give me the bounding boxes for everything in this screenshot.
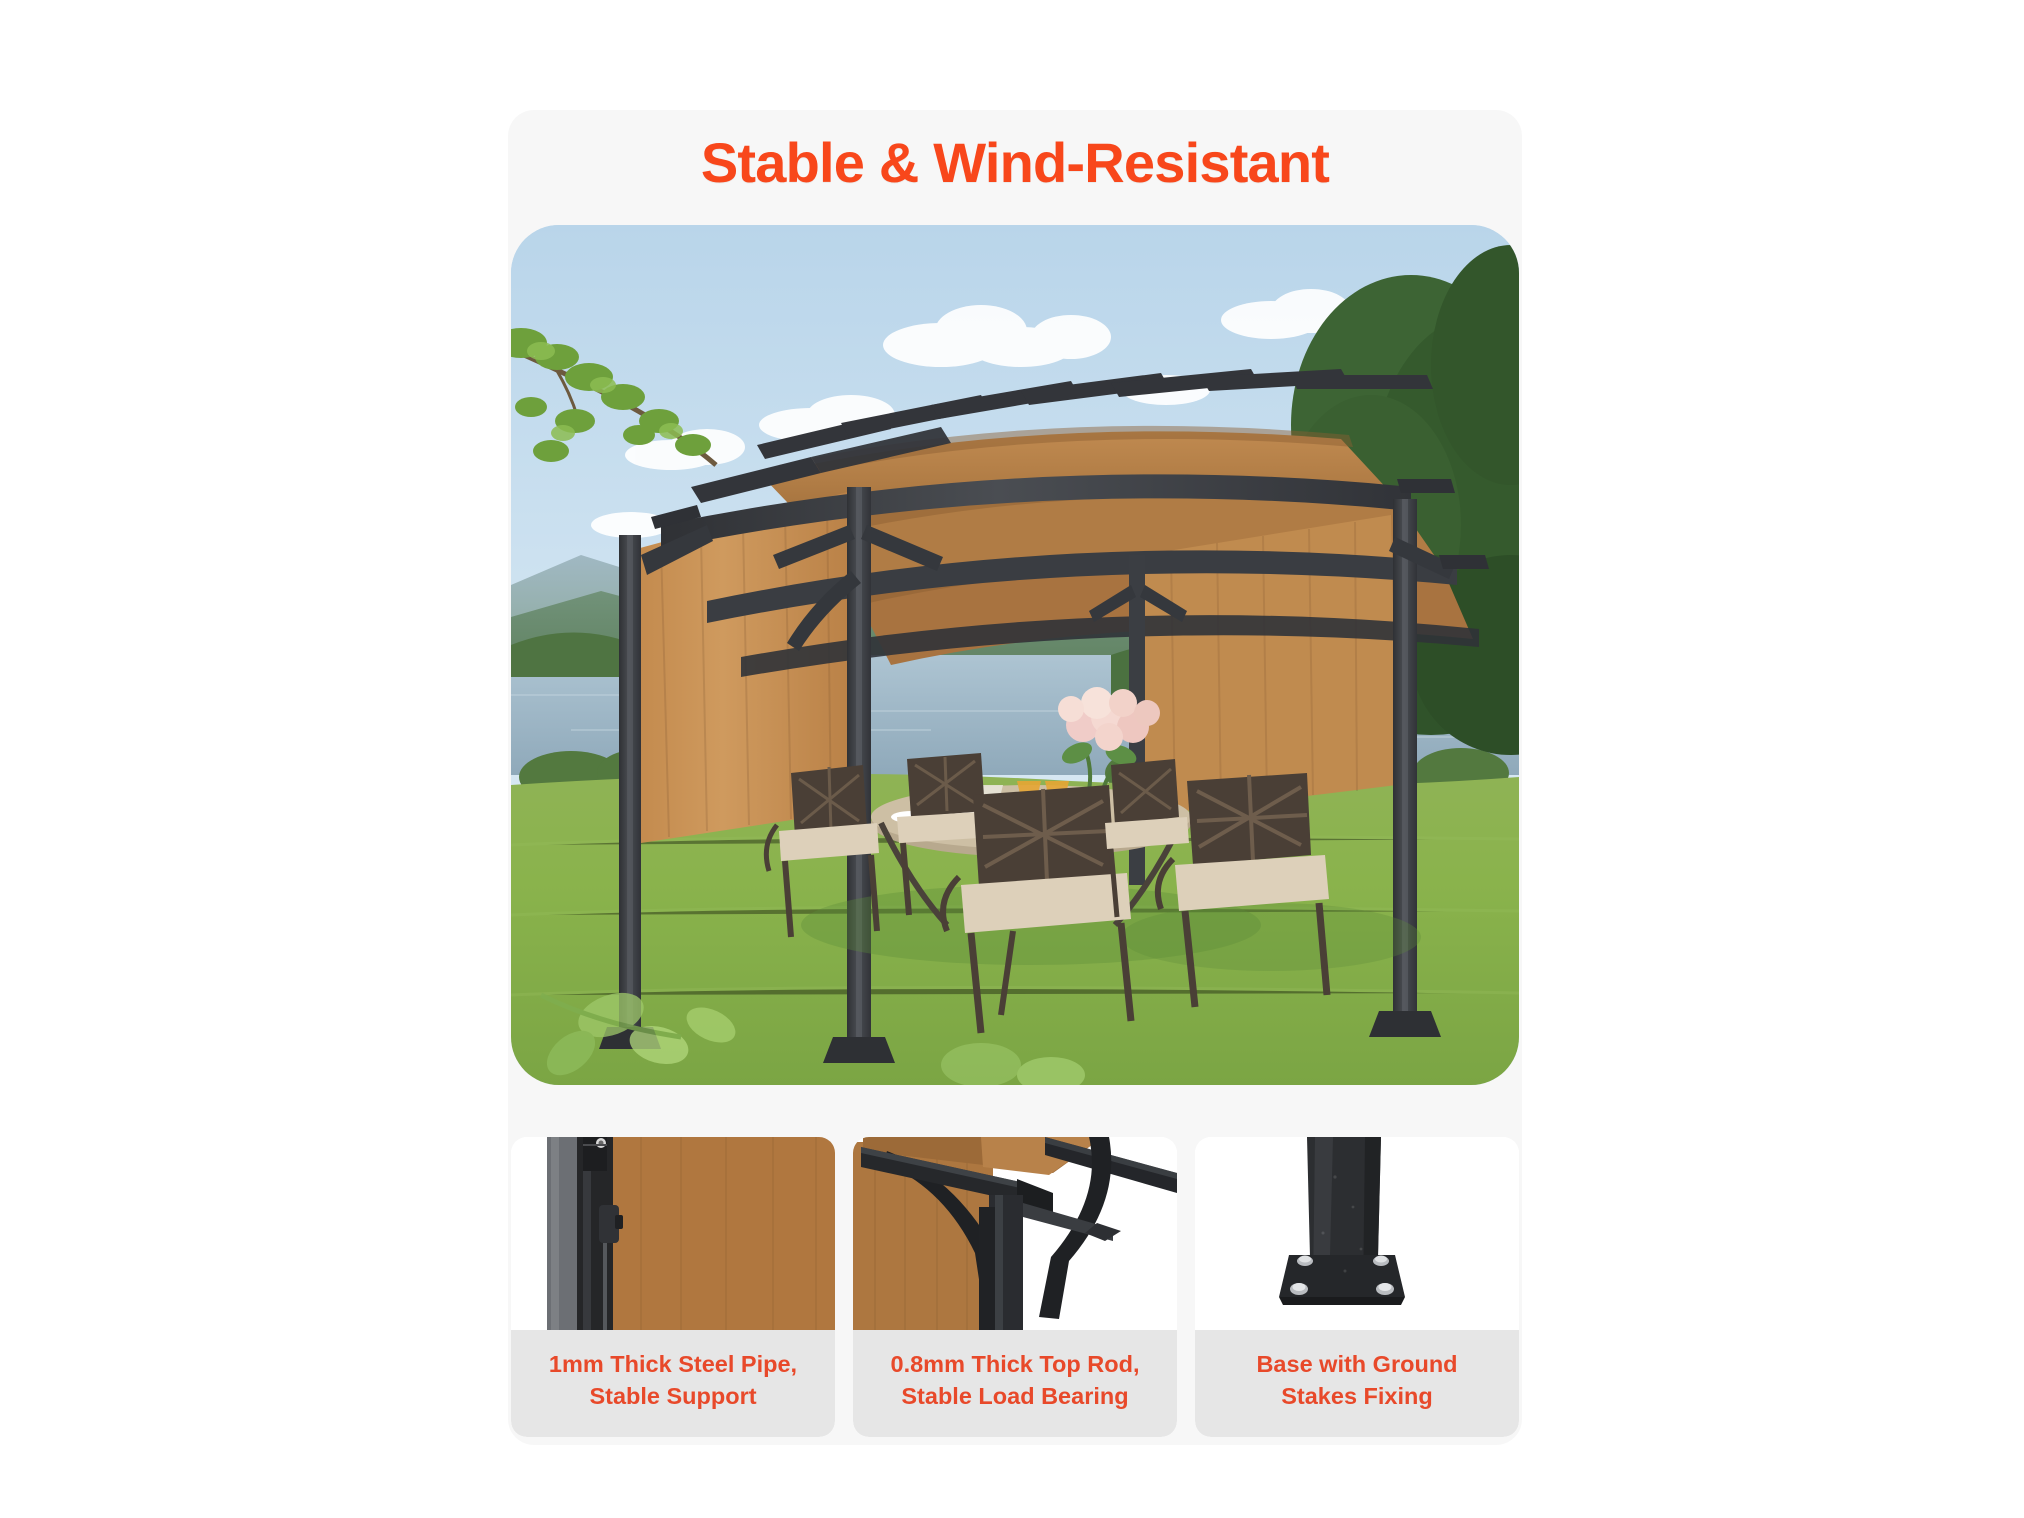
product-feature-page: Stable & Wind-Resistant — [0, 0, 2024, 1518]
top-rod-detail — [853, 1137, 1177, 1330]
caption-text-1: 1mm Thick Steel Pipe, Stable Support — [549, 1349, 797, 1411]
feature-card-base-stakes: Base with Ground Stakes Fixing — [1195, 1137, 1519, 1437]
feature-thumbnail-row: 1mm Thick Steel Pipe, Stable Support — [511, 1137, 1519, 1437]
title-container: Stable & Wind-Resistant — [508, 116, 1522, 208]
page-title: Stable & Wind-Resistant — [701, 130, 1329, 195]
steel-pipe-icon — [511, 1137, 835, 1330]
top-rod-icon — [853, 1137, 1177, 1330]
feature-card-steel-pipe: 1mm Thick Steel Pipe, Stable Support — [511, 1137, 835, 1437]
caption-text-3: Base with Ground Stakes Fixing — [1256, 1349, 1457, 1411]
feature-card-top-rod: 0.8mm Thick Top Rod, Stable Load Bearing — [853, 1137, 1177, 1437]
hero-illustration — [511, 225, 1519, 1085]
feature-caption-1: 1mm Thick Steel Pipe, Stable Support — [511, 1330, 835, 1437]
hero-image — [511, 225, 1519, 1085]
feature-caption-2: 0.8mm Thick Top Rod, Stable Load Bearing — [853, 1330, 1177, 1437]
steel-pipe-detail — [511, 1137, 835, 1330]
feature-caption-3: Base with Ground Stakes Fixing — [1195, 1330, 1519, 1437]
caption-text-2: 0.8mm Thick Top Rod, Stable Load Bearing — [891, 1349, 1140, 1411]
base-plate-detail — [1195, 1137, 1519, 1330]
ground-stake-icon — [1195, 1137, 1519, 1330]
